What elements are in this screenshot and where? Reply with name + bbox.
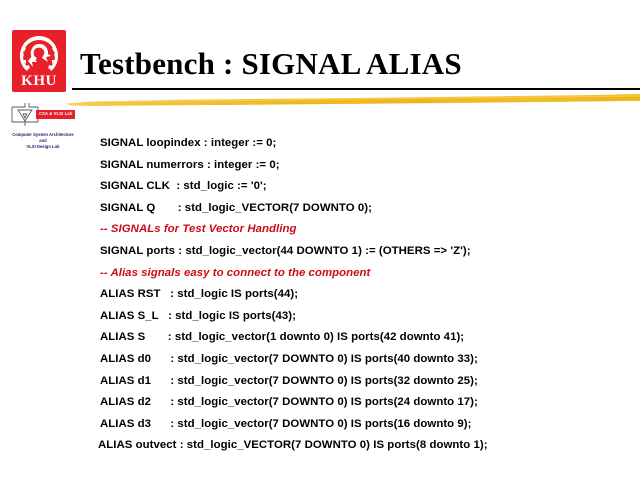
code-block: SIGNAL loopindex : integer := 0; SIGNAL …	[100, 133, 634, 457]
code-line: SIGNAL Q : std_logic_VECTOR(7 DOWNTO 0);	[100, 198, 634, 220]
slide-title: Testbench : SIGNAL ALIAS	[80, 47, 620, 80]
code-line: ALIAS d2 : std_logic_vector(7 DOWNTO 0) …	[100, 392, 634, 414]
code-line: SIGNAL ports : std_logic_vector(44 DOWNT…	[100, 241, 634, 263]
khu-logo: KHU	[12, 30, 66, 92]
code-line: ALIAS outvect : std_logic_VECTOR(7 DOWNT…	[98, 435, 634, 457]
code-line: ALIAS d1 : std_logic_vector(7 DOWNTO 0) …	[100, 371, 634, 393]
code-line: SIGNAL CLK : std_logic := '0';	[100, 176, 634, 198]
vlsi-lab-caption: Computer System Architecture and VLSI De…	[6, 132, 80, 150]
code-line: SIGNAL numerrors : integer := 0;	[100, 155, 634, 177]
code-line: ALIAS d0 : std_logic_vector(7 DOWNTO 0) …	[100, 349, 634, 371]
khu-logo-text: KHU	[12, 74, 66, 89]
code-comment-line: -- SIGNALs for Test Vector Handling	[100, 219, 634, 241]
vlsi-lab-badge: CSA & VLSI Lab	[36, 110, 75, 119]
code-line: ALIAS S_L : std_logic IS ports(43);	[100, 306, 634, 328]
khu-wreath-icon	[15, 32, 63, 74]
code-comment-line: -- Alias signals easy to connect to the …	[100, 263, 634, 285]
code-line: ALIAS RST : std_logic IS ports(44);	[100, 284, 634, 306]
code-line: SIGNAL loopindex : integer := 0;	[100, 133, 634, 155]
code-line: ALIAS d3 : std_logic_vector(7 DOWNTO 0) …	[100, 414, 634, 436]
vlsi-lab-caption-line-3: VLSI Design Lab	[6, 144, 80, 150]
slide-canvas: KHU CSA & VLSI Lab Computer System Archi…	[0, 0, 640, 480]
code-line: ALIAS S : std_logic_vector(1 downto 0) I…	[100, 327, 634, 349]
brush-stroke-decoration	[60, 89, 640, 111]
